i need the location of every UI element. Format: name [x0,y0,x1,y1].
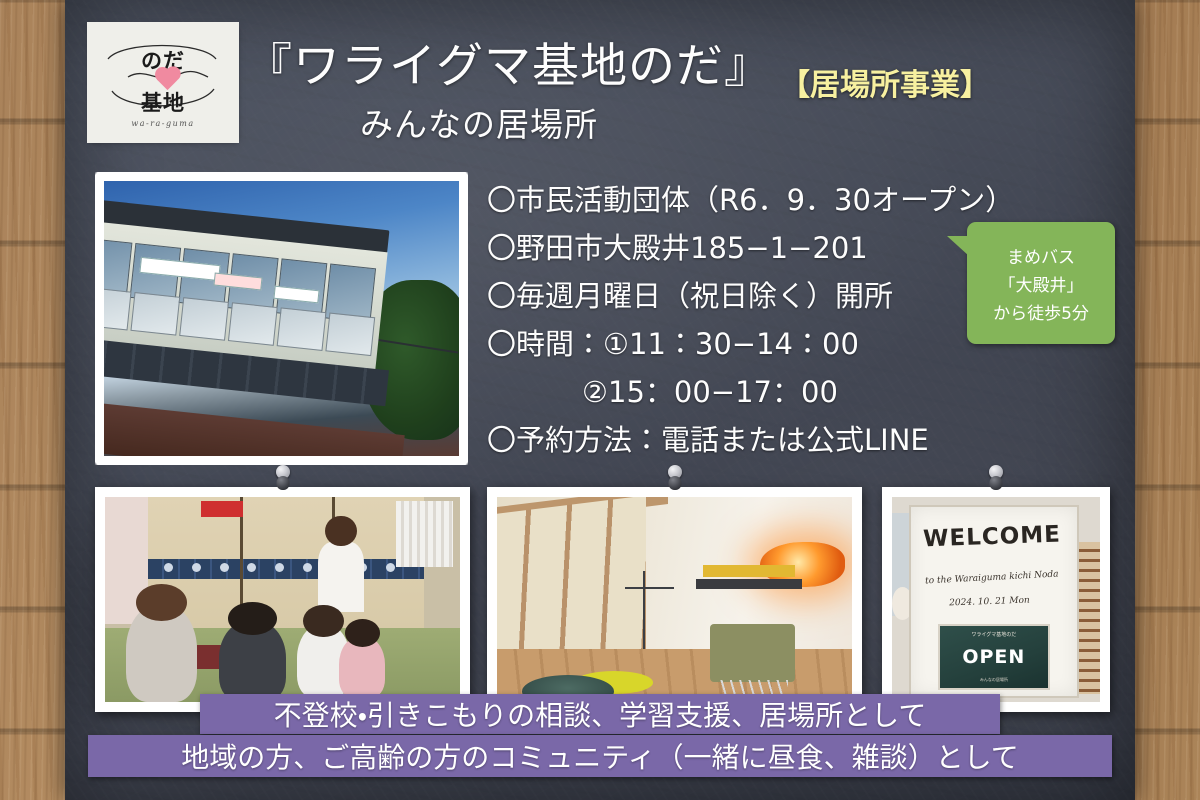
info-line-1: 〇市民活動団体（R6．9．30オープン） [487,176,1007,224]
organization-logo: のだ 基地 wa-ra-guma [90,25,236,140]
bus-access-callout: まめバス 「大殿井」 から徒歩5分 [967,222,1115,344]
open-sign-bottom-text: みんなの居場所 [940,677,1048,683]
building-exterior-photo [104,181,459,456]
room-photo-frame [487,487,862,712]
callout-line-2: 「大殿井」 [999,271,1084,296]
open-sign: ワライグマ基地のだ OPEN みんなの居場所 [938,624,1050,690]
whiteboard-photo-frame: WELCOME to the Waraiguma kichi Noda 2024… [882,487,1110,712]
info-line-3: 〇毎週月曜日（祝日除く）開所 [487,272,1007,320]
caption-text-1: 不登校・引きこもりの相談、学習支援、居場所として [274,694,927,734]
info-line-5: ②15：00−17：00 [487,368,1007,416]
callout-line-3: から徒歩5分 [993,299,1089,324]
tatami-room-activity-photo [105,497,460,702]
logo-bottom-text: 基地 [90,87,236,117]
callout-tail [947,236,969,256]
caption-bar-2: 地域の方、ご高齢の方のコミュニティ（一緒に昼食、雑談）として [88,735,1112,777]
welcome-whiteboard-photo: WELCOME to the Waraiguma kichi Noda 2024… [892,497,1100,702]
info-line-4: 〇時間：①11：30−14：00 [487,320,1007,368]
torn-edge-left [94,172,101,465]
logo-script-text: wa-ra-guma [90,119,236,128]
status-badge: 【居場所事業】 [780,60,990,104]
pushpin-icon [668,465,682,479]
callout-line-1: まめバス [1007,243,1075,268]
caption-text-2: 地域の方、ご高齢の方のコミュニティ（一緒に昼食、雑談）として [181,736,1018,776]
page-subtitle: みんなの居場所 [360,98,598,146]
open-sign-label: OPEN [962,646,1025,668]
whiteboard-welcome-text: WELCOME [912,521,1071,553]
torn-edge-right [462,172,469,465]
poster-root: のだ 基地 wa-ra-guma 『ワライグマ基地のだ』 みんなの居場所 【居場… [0,0,1200,800]
open-sign-top-text: ワライグマ基地のだ [940,631,1048,638]
info-line-2: 〇野田市大殿井185−1−201 [487,224,1007,272]
building-photo-frame [95,172,468,465]
pushpin-icon [989,465,1003,479]
pushpin-icon [276,465,290,479]
torn-edge-top [95,171,468,178]
tatami-photo-frame [95,487,470,712]
page-title: 『ワライグマ基地のだ』 [245,27,772,96]
info-line-6: 〇予約方法：電話または公式LINE [487,416,1007,464]
info-list: 〇市民活動団体（R6．9．30オープン） 〇野田市大殿井185−1−201 〇毎… [487,176,1007,464]
interior-room-photo [497,497,852,702]
caption-bar-1: 不登校・引きこもりの相談、学習支援、居場所として [200,694,1000,734]
